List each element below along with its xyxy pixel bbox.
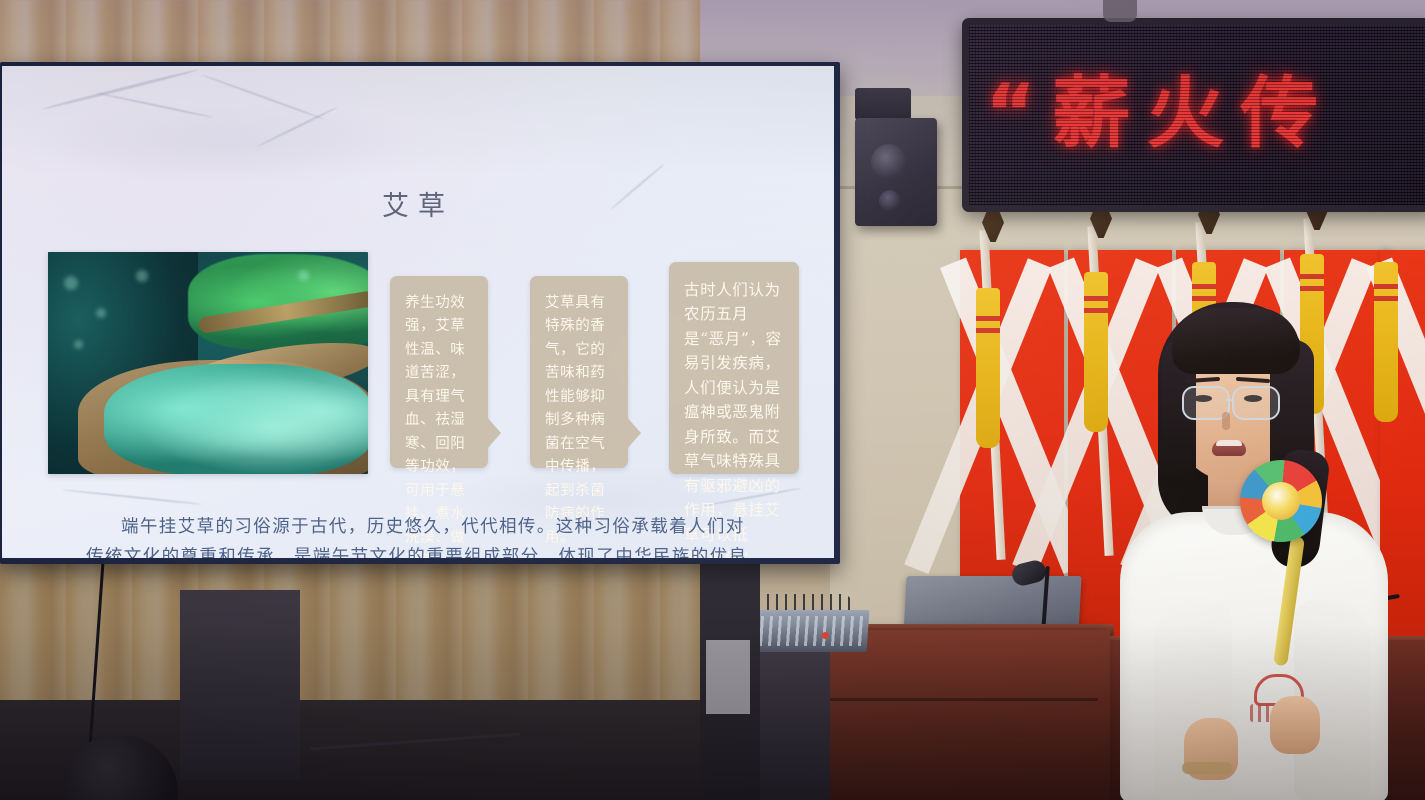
speaker-bracket — [855, 88, 911, 120]
info-box-2: 艾草具有特殊的香气，它的苦味和药性能够抑制多种病菌在空气中传播，起到杀菌防病的作… — [530, 276, 628, 468]
photo-bokeh — [136, 270, 148, 282]
eyeglasses-lens — [1232, 386, 1280, 420]
led-banner: “薪火传 — [962, 18, 1425, 212]
photo-bokeh — [64, 276, 78, 290]
podium-trim — [798, 698, 1098, 701]
slide-title: 艾草 — [2, 184, 834, 223]
nose — [1222, 412, 1230, 430]
ink-brush-stroke — [95, 92, 213, 119]
info-box-1: 养生功效强，艾草性温、味道苦涩，具有理气血、祛湿寒、回阳等功效，可用于悬挂、煮水… — [390, 276, 488, 468]
eyeglasses-bridge — [1226, 399, 1234, 401]
wrist-band — [1182, 762, 1232, 774]
presenter — [1080, 300, 1400, 800]
ceiling-fixture — [1103, 0, 1137, 22]
ink-brush-stroke — [256, 106, 338, 147]
led-banner-text: “薪火传 — [985, 51, 1425, 163]
speaker-driver-icon — [871, 144, 907, 180]
slide-paragraph: 端午挂艾草的习俗源于古代，历史悠久，代代相传。这种习俗承载着人们对传统文化的尊重… — [86, 512, 758, 558]
info-box-3: 古时人们认为农历五月是“恶月”，容易引发疾病，人们便认为是瘟神或恶鬼附身所致。而… — [669, 262, 799, 474]
podium — [790, 630, 1110, 800]
av-cabinet — [180, 590, 300, 780]
mugwort-photo — [48, 252, 368, 474]
wall-speaker — [855, 118, 937, 226]
speaker-tweeter-icon — [879, 190, 901, 212]
photo-mugwort-leaves — [104, 364, 368, 474]
equipment-unit — [706, 640, 750, 714]
ink-brush-stroke — [42, 69, 198, 111]
presentation-slide[interactable]: 艾草 养生功效强，艾草性温、味道苦涩，具有理气血、祛湿寒、回阳等功效，可用于悬挂… — [2, 66, 834, 558]
teeth — [1216, 440, 1242, 446]
hair-fringe — [1172, 308, 1300, 374]
ink-brush-stroke — [202, 74, 325, 120]
photo-bokeh — [74, 340, 83, 349]
flag-tassel — [976, 288, 1000, 448]
photo-bokeh — [96, 308, 106, 318]
rattle-drum-swirl — [1262, 482, 1300, 520]
photo-bokeh — [298, 270, 309, 281]
ink-brush-stroke — [62, 489, 201, 506]
presentation-scene: “薪火传 艾草 — [0, 0, 1425, 800]
right-hand — [1270, 696, 1320, 754]
